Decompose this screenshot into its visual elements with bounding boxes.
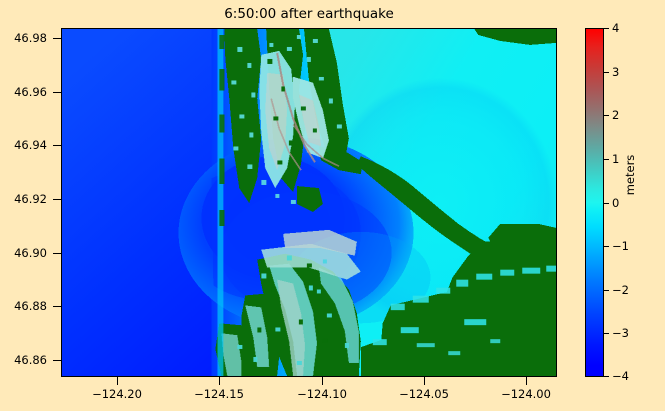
colorbar-tick-label: 1 — [612, 152, 619, 166]
y-tick-label: 46.86 — [14, 353, 47, 367]
x-tick-label: −124.00 — [501, 387, 551, 401]
x-tick-label: −124.15 — [194, 387, 244, 401]
colorbar-tick-mark — [604, 376, 609, 377]
colorbar-tick-label: 0 — [612, 196, 619, 210]
y-tick-label: 46.90 — [14, 246, 47, 260]
colorbar-tick-mark — [604, 28, 609, 29]
colorbar-tick-label: −4 — [612, 369, 629, 383]
y-tick-mark — [53, 145, 61, 146]
y-tick-mark — [53, 306, 61, 307]
colorbar-tick-mark — [604, 203, 609, 204]
y-tick-label: 46.92 — [14, 192, 47, 206]
y-tick-mark — [53, 360, 61, 361]
x-tick-mark — [526, 377, 527, 385]
colorbar-axis-label: meters — [623, 155, 637, 196]
x-tick-mark — [322, 377, 323, 385]
x-tick-mark — [219, 377, 220, 385]
y-tick-label: 46.96 — [14, 85, 47, 99]
colorbar-tick-label: −1 — [612, 239, 629, 253]
colorbar-tick-mark — [604, 115, 609, 116]
colorbar-tick-label: 2 — [612, 108, 619, 122]
colorbar-gradient[interactable] — [585, 28, 604, 377]
colorbar-tick-label: −2 — [612, 283, 629, 297]
colorbar-tick-mark — [604, 246, 609, 247]
x-tick-label: −124.05 — [399, 387, 449, 401]
x-tick-mark — [117, 377, 118, 385]
x-tick-label: −124.20 — [92, 387, 142, 401]
y-tick-label: 46.88 — [14, 299, 47, 313]
colorbar-tick-mark — [604, 72, 609, 73]
colorbar-tick-mark — [604, 290, 609, 291]
y-tick-mark — [53, 92, 61, 93]
y-tick-label: 46.94 — [14, 138, 47, 152]
map-axes[interactable] — [61, 28, 557, 377]
colorbar-tick-label: 3 — [612, 65, 619, 79]
y-tick-mark — [53, 38, 61, 39]
plot-title: 6:50:00 after earthquake — [61, 4, 557, 24]
x-tick-mark — [424, 377, 425, 385]
x-tick-label: −124.10 — [297, 387, 347, 401]
y-tick-mark — [53, 199, 61, 200]
inundation-map — [62, 29, 556, 376]
figure-canvas: 6:50:00 after earthquake 46.98 46.96 46.… — [0, 0, 665, 411]
colorbar-tick-mark — [604, 333, 609, 334]
colorbar-tick-mark — [604, 159, 609, 160]
y-tick-mark — [53, 253, 61, 254]
colorbar-tick-label: 4 — [612, 21, 619, 35]
y-tick-label: 46.98 — [14, 31, 47, 45]
colorbar-tick-label: −3 — [612, 326, 629, 340]
